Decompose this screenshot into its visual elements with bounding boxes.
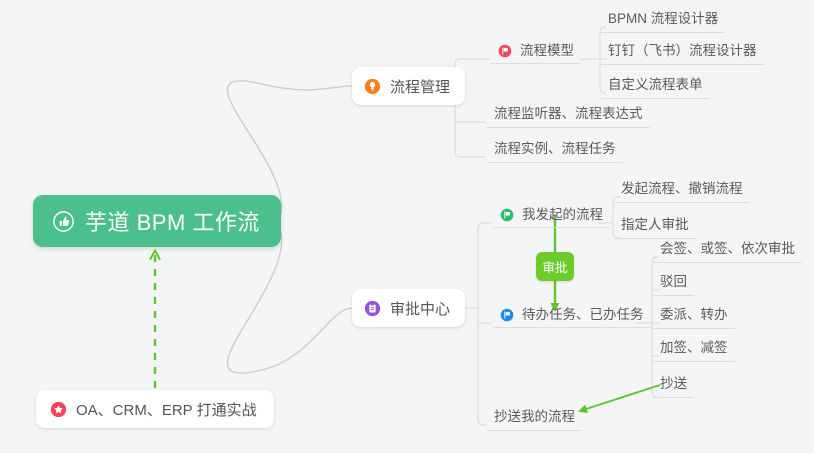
flag-icon xyxy=(500,208,514,222)
leaf-label-todo-done: 待办任务、已办任务 xyxy=(522,306,644,323)
tag-node-integration[interactable]: OA、CRM、ERP 打通实战 xyxy=(36,390,274,428)
leaf-bpmn-designer[interactable]: BPMN 流程设计器 xyxy=(601,10,725,33)
root-node[interactable]: 芋道 BPM 工作流 xyxy=(33,195,281,247)
leaf-label-my-started: 我发起的流程 xyxy=(522,206,603,223)
thumbs-up-icon xyxy=(53,211,74,232)
leaf-label-process-model: 流程模型 xyxy=(520,42,574,59)
lightbulb-icon xyxy=(364,78,381,95)
root-label: 芋道 BPM 工作流 xyxy=(85,205,260,237)
tag-label: OA、CRM、ERP 打通实战 xyxy=(76,399,257,420)
leaf-custom-form[interactable]: 自定义流程表单 xyxy=(601,76,710,99)
branch-node-approval-center[interactable]: 审批中心 xyxy=(352,289,465,327)
leaf-multi-sign[interactable]: 会签、或签、依次审批 xyxy=(653,240,802,263)
branch-node-flow-management[interactable]: 流程管理 xyxy=(352,67,465,105)
leaf-todo-done[interactable]: 待办任务、已办任务 xyxy=(493,306,651,328)
leaf-reject[interactable]: 驳回 xyxy=(653,273,694,296)
leaf-start-cancel[interactable]: 发起流程、撤销流程 xyxy=(614,180,750,203)
leaf-listener-expression[interactable]: 流程监听器、流程表达式 xyxy=(487,105,650,128)
flag-icon xyxy=(498,44,512,58)
branch-label-approval-center: 审批中心 xyxy=(390,298,450,319)
leaf-process-model[interactable]: 流程模型 xyxy=(491,42,581,64)
leaf-dingtalk-designer[interactable]: 钉钉（飞书）流程设计器 xyxy=(601,42,764,65)
star-icon xyxy=(50,401,67,418)
leaf-my-started[interactable]: 我发起的流程 xyxy=(493,206,610,228)
leaf-cc-to-me[interactable]: 抄送我的流程 xyxy=(487,408,582,431)
leaf-instance-task[interactable]: 流程实例、流程任务 xyxy=(487,140,623,163)
flag-icon xyxy=(500,308,514,322)
annotation-badge-approve: 审批 xyxy=(536,252,574,281)
mindmap-canvas: 芋道 BPM 工作流 流程管理 审批中心 xyxy=(0,0,814,453)
leaf-delegate[interactable]: 委派、转办 xyxy=(653,306,735,329)
branch-label-flow-management: 流程管理 xyxy=(390,76,450,97)
flow-arrow-cc xyxy=(580,385,660,411)
clipboard-icon xyxy=(364,300,381,317)
leaf-assignee[interactable]: 指定人审批 xyxy=(614,216,696,239)
leaf-add-remove-sign[interactable]: 加签、减签 xyxy=(653,339,735,362)
leaf-cc[interactable]: 抄送 xyxy=(653,375,694,398)
